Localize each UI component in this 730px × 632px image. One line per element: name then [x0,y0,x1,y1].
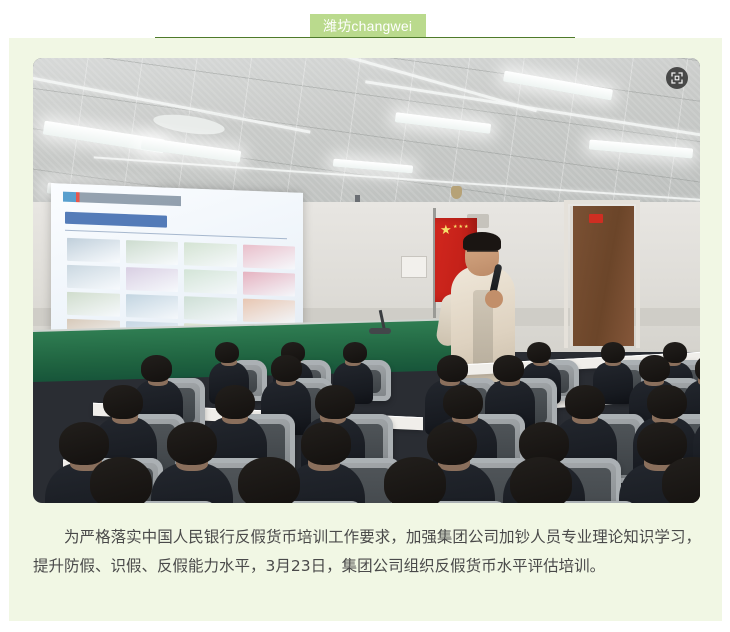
audience-head [167,422,218,465]
audience [33,58,700,503]
audience-head [437,355,468,381]
photo-scene [33,58,700,503]
audience-head [315,385,355,419]
audience-head [238,457,300,503]
article-card: 为严格落实中国人民银行反假货币培训工作要求，加强集团公司加钞人员专业理论知识学习… [9,38,722,621]
audience-head [384,457,446,503]
audience-head [90,457,152,503]
audience-head [527,342,552,363]
audience-head [301,422,352,465]
site-title-badge: 潍坊changwei [310,14,426,38]
audience-head [510,457,572,503]
page-header: 潍坊changwei [0,0,730,38]
audience-head [601,342,626,363]
audience-head [427,422,478,465]
audience-head [493,355,524,381]
audience-head [215,385,255,419]
audience-head [565,385,605,419]
audience-head [271,355,302,381]
audience-head [639,355,670,381]
article-caption: 为严格落实中国人民银行反假货币培训工作要求，加强集团公司加钞人员专业理论知识学习… [33,523,701,581]
article-photo[interactable] [33,58,700,503]
audience-head [103,385,143,419]
fullscreen-expand-icon[interactable] [666,67,688,89]
audience-head [443,385,483,419]
audience-head [343,342,368,363]
audience-head [141,355,172,381]
audience-head [215,342,240,363]
audience-head [59,422,110,465]
audience-head [647,385,687,419]
